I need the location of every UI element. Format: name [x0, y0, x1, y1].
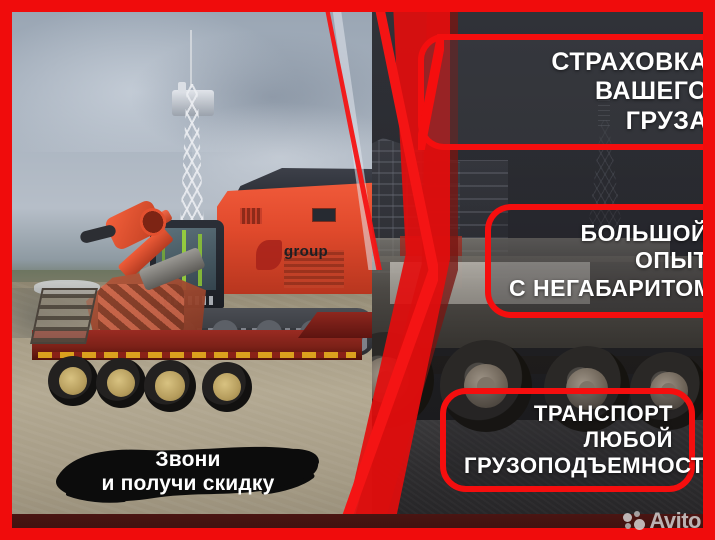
rig-logo-mark [256, 240, 282, 270]
antenna-rod [190, 30, 192, 88]
rig-logo-text: group [284, 243, 328, 260]
avito-watermark: Avito [623, 508, 701, 534]
badge-experience-line-2: ОПЫТ [509, 247, 708, 274]
trailer-ramp [30, 288, 98, 344]
trailer-wheel [96, 358, 146, 408]
bottom-band [0, 514, 715, 540]
advertisement-banner: group [0, 0, 715, 540]
badge-capacity-line-3: ГРУЗОПОДЪЕМНОСТИ [464, 453, 673, 479]
badge-experience-line-3: С НЕГАБАРИТОМ [509, 275, 708, 302]
cta-line-2: и получи скидку [101, 472, 274, 496]
avito-logo-icon [623, 511, 645, 531]
trailer-warning-stripe [38, 352, 356, 358]
trailer-wheel [48, 356, 98, 406]
avito-wordmark: Avito [649, 508, 701, 534]
discount-callout: Звони и получи скидку [54, 436, 322, 508]
badge-capacity-line-1: ТРАНСПОРТ [464, 401, 673, 427]
discount-callout-text: Звони и получи скидку [54, 436, 322, 508]
badge-insurance[interactable]: СТРАХОВКА ВАШЕГО ГРУЗА [418, 34, 715, 150]
badge-capacity-line-2: ЛЮБОЙ [464, 427, 673, 453]
drill-tip [79, 224, 117, 244]
left-photo: group [12, 12, 372, 528]
trailer-wheel [202, 362, 252, 412]
badge-insurance-line-1: СТРАХОВКА [442, 48, 708, 78]
badge-experience-line-1: БОЛЬШОЙ [509, 220, 708, 247]
rig-attachment-detail [98, 284, 184, 336]
cta-line-1: Звони [155, 448, 220, 472]
badge-insurance-line-3: ГРУЗА [442, 107, 708, 137]
badge-capacity[interactable]: ТРАНСПОРТ ЛЮБОЙ ГРУЗОПОДЪЕМНОСТИ [440, 388, 695, 492]
badge-insurance-line-2: ВАШЕГО [442, 77, 708, 107]
rig-vent [240, 208, 262, 224]
trailer-wheel [144, 360, 196, 412]
badge-experience[interactable]: БОЛЬШОЙ ОПЫТ С НЕГАБАРИТОМ [485, 204, 715, 318]
rig-window [312, 208, 336, 222]
